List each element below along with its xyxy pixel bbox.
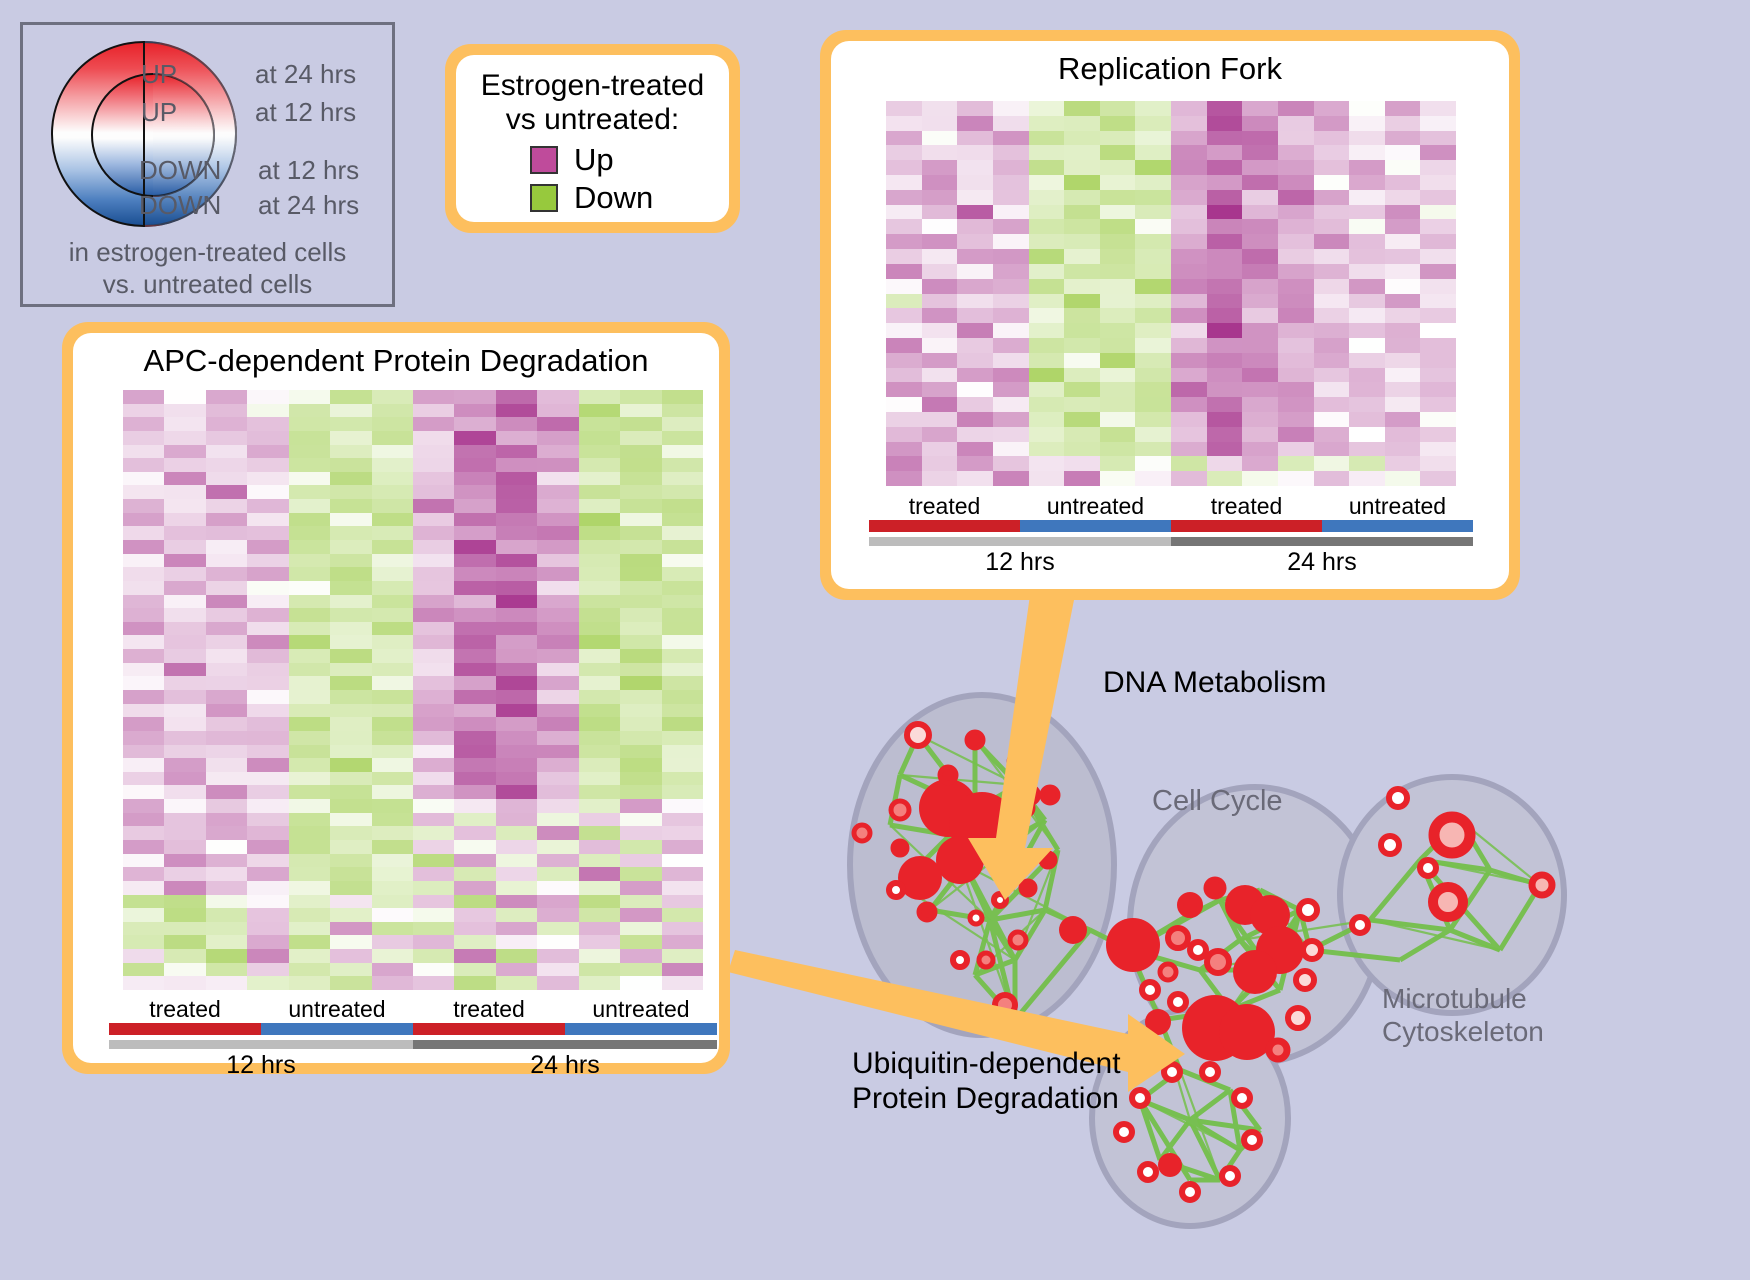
- heatmap-cell: [537, 417, 578, 431]
- heatmap-cell: [372, 431, 413, 445]
- heatmap-cell: [164, 513, 205, 527]
- heatmap-cell: [330, 826, 371, 840]
- heatmap-cell: [330, 785, 371, 799]
- heatmap-cell: [164, 785, 205, 799]
- heatmap-cell: [1207, 427, 1243, 442]
- heatmap-cell: [662, 785, 703, 799]
- column-group-label: treated: [1171, 493, 1322, 520]
- heatmap-cell: [413, 690, 454, 704]
- wheel-caption-line1: in estrogen-treated cells: [23, 237, 392, 269]
- heatmap-cell: [206, 826, 247, 840]
- replication-fork-title: Replication Fork: [831, 41, 1509, 87]
- heatmap-cell: [662, 567, 703, 581]
- heatmap-cell: [1100, 308, 1136, 323]
- heatmap-cell: [289, 390, 330, 404]
- heatmap-cell: [330, 663, 371, 677]
- heatmap-cell: [496, 922, 537, 936]
- treatment-bar: [1171, 520, 1322, 532]
- heatmap-cell: [289, 554, 330, 568]
- heatmap-cell: [1242, 427, 1278, 442]
- heatmap-cell: [247, 758, 288, 772]
- heatmap-cell: [330, 867, 371, 881]
- heatmap-cell: [922, 338, 958, 353]
- replication-fork-heatmap: [886, 101, 1456, 486]
- heatmap-cell: [289, 745, 330, 759]
- heatmap-cell: [620, 554, 661, 568]
- heatmap-cell: [957, 249, 993, 264]
- heatmap-cell: [662, 554, 703, 568]
- heatmap-cell: [496, 840, 537, 854]
- heatmap-cell: [620, 417, 661, 431]
- heatmap-cell: [123, 554, 164, 568]
- heatmap-cell: [1171, 382, 1207, 397]
- heatmap-cell: [537, 676, 578, 690]
- heatmap-cell: [206, 731, 247, 745]
- heatmap-cell: [662, 417, 703, 431]
- heatmap-cell: [1207, 249, 1243, 264]
- apc-title: APC-dependent Protein Degradation: [73, 333, 719, 379]
- heatmap-cell: [206, 417, 247, 431]
- heatmap-cell: [1278, 234, 1314, 249]
- heatmap-cell: [496, 813, 537, 827]
- heatmap-cell: [957, 234, 993, 249]
- heatmap-cell: [579, 772, 620, 786]
- heatmap-cell: [1029, 101, 1065, 116]
- heatmap-cell: [496, 472, 537, 486]
- heatmap-cell: [1242, 279, 1278, 294]
- heatmap-cell: [496, 908, 537, 922]
- heatmap-cell: [1207, 131, 1243, 146]
- heatmap-cell: [372, 676, 413, 690]
- column-group-label: untreated: [565, 996, 717, 1023]
- heatmap-cell: [1100, 353, 1136, 368]
- heatmap-cell: [662, 663, 703, 677]
- heatmap-cell: [454, 799, 495, 813]
- heatmap-cell: [620, 581, 661, 595]
- heatmap-cell: [1242, 190, 1278, 205]
- color-wheel-legend: UP at 24 hrs UP at 12 hrs DOWN at 12 hrs…: [20, 22, 395, 307]
- heatmap-cell: [1135, 131, 1171, 146]
- heatmap-cell: [1349, 116, 1385, 131]
- heatmap-cell: [1100, 456, 1136, 471]
- heatmap-cell: [1100, 175, 1136, 190]
- heatmap-cell: [164, 676, 205, 690]
- heatmap-cell: [164, 826, 205, 840]
- heatmap-cell: [1385, 368, 1421, 383]
- heatmap-cell: [662, 458, 703, 472]
- heatmap-cell: [123, 922, 164, 936]
- heatmap-cell: [330, 935, 371, 949]
- heatmap-cell: [993, 190, 1029, 205]
- heatmap-cell: [164, 963, 205, 977]
- heatmap-cell: [579, 758, 620, 772]
- network-node: [1233, 950, 1277, 994]
- heatmap-cell: [247, 404, 288, 418]
- heatmap-cell: [289, 431, 330, 445]
- heatmap-cell: [537, 813, 578, 827]
- heatmap-cell: [123, 608, 164, 622]
- heatmap-cell: [579, 445, 620, 459]
- heatmap-cell: [247, 813, 288, 827]
- heatmap-cell: [1135, 175, 1171, 190]
- heatmap-cell: [620, 704, 661, 718]
- heatmap-cell: [1064, 338, 1100, 353]
- heatmap-cell: [620, 976, 661, 990]
- heatmap-cell: [620, 826, 661, 840]
- heatmap-cell: [1278, 175, 1314, 190]
- heatmap-cell: [372, 758, 413, 772]
- timepoint-label: 12 hrs: [109, 1051, 413, 1080]
- heatmap-cell: [1242, 294, 1278, 309]
- heatmap-cell: [206, 472, 247, 486]
- heatmap-cell: [1420, 234, 1456, 249]
- heatmap-cell: [1171, 353, 1207, 368]
- heatmap-cell: [537, 935, 578, 949]
- heatmap-cell: [620, 635, 661, 649]
- heatmap-cell: [289, 485, 330, 499]
- heatmap-cell: [454, 649, 495, 663]
- heatmap-cell: [123, 826, 164, 840]
- heatmap-cell: [1207, 323, 1243, 338]
- heatmap-cell: [1029, 234, 1065, 249]
- heatmap-cell: [662, 895, 703, 909]
- heatmap-cell: [922, 471, 958, 486]
- heatmap-cell: [886, 264, 922, 279]
- heatmap-cell: [922, 116, 958, 131]
- heatmap-cell: [620, 540, 661, 554]
- heatmap-cell: [206, 404, 247, 418]
- heatmap-cell: [330, 717, 371, 731]
- heatmap-cell: [537, 595, 578, 609]
- heatmap-cell: [1171, 308, 1207, 323]
- heatmap-cell: [123, 649, 164, 663]
- heatmap-cell: [164, 799, 205, 813]
- heatmap-cell: [206, 526, 247, 540]
- heatmap-cell: [330, 485, 371, 499]
- heatmap-cell: [454, 976, 495, 990]
- heatmap-cell: [922, 382, 958, 397]
- heatmap-cell: [1171, 456, 1207, 471]
- heatmap-cell: [247, 717, 288, 731]
- heatmap-cell: [1385, 145, 1421, 160]
- heatmap-cell: [164, 499, 205, 513]
- heatmap-cell: [1385, 456, 1421, 471]
- heatmap-cell: [123, 731, 164, 745]
- heatmap-cell: [1135, 397, 1171, 412]
- heatmap-cell: [1385, 442, 1421, 457]
- heatmap-cell: [164, 608, 205, 622]
- heatmap-cell: [1207, 456, 1243, 471]
- heatmap-cell: [372, 785, 413, 799]
- heatmap-cell: [413, 758, 454, 772]
- heatmap-cell: [1385, 382, 1421, 397]
- heatmap-cell: [247, 840, 288, 854]
- heatmap-cell: [164, 745, 205, 759]
- heatmap-cell: [289, 499, 330, 513]
- heatmap-cell: [206, 690, 247, 704]
- heatmap-cell: [1207, 205, 1243, 220]
- heatmap-cell: [662, 676, 703, 690]
- heatmap-cell: [1420, 205, 1456, 220]
- heatmap-cell: [413, 499, 454, 513]
- heatmap-cell: [372, 731, 413, 745]
- heatmap-cell: [454, 908, 495, 922]
- heatmap-cell: [886, 353, 922, 368]
- heatmap-cell: [454, 949, 495, 963]
- heatmap-cell: [123, 390, 164, 404]
- heatmap-cell: [886, 471, 922, 486]
- heatmap-cell: [206, 499, 247, 513]
- heatmap-cell: [289, 854, 330, 868]
- heatmap-cell: [454, 922, 495, 936]
- heatmap-cell: [330, 895, 371, 909]
- heatmap-cell: [579, 663, 620, 677]
- heatmap-cell: [620, 854, 661, 868]
- heatmap-cell: [1420, 397, 1456, 412]
- heatmap-cell: [1314, 249, 1350, 264]
- heatmap-cell: [206, 622, 247, 636]
- heatmap-cell: [123, 840, 164, 854]
- heatmap-cell: [1064, 294, 1100, 309]
- heatmap-cell: [330, 881, 371, 895]
- heatmap-cell: [164, 458, 205, 472]
- heatmap-cell: [1135, 353, 1171, 368]
- heatmap-cell: [247, 799, 288, 813]
- heatmap-cell: [454, 445, 495, 459]
- heatmap-cell: [330, 635, 371, 649]
- heatmap-cell: [247, 881, 288, 895]
- heatmap-cell: [1385, 294, 1421, 309]
- heatmap-cell: [1420, 323, 1456, 338]
- heatmap-cell: [620, 963, 661, 977]
- heatmap-cell: [1207, 264, 1243, 279]
- heatmap-cell: [1029, 323, 1065, 338]
- heatmap-cell: [1135, 219, 1171, 234]
- heatmap-cell: [164, 635, 205, 649]
- wheel-caption: in estrogen-treated cells vs. untreated …: [23, 237, 392, 300]
- heatmap-cell: [957, 412, 993, 427]
- heatmap-cell: [496, 390, 537, 404]
- heatmap-cell: [1420, 471, 1456, 486]
- heatmap-cell: [247, 704, 288, 718]
- heatmap-cell: [662, 799, 703, 813]
- heatmap-cell: [886, 205, 922, 220]
- heatmap-cell: [579, 963, 620, 977]
- heatmap-cell: [620, 445, 661, 459]
- heatmap-cell: [206, 758, 247, 772]
- heatmap-cell: [496, 554, 537, 568]
- heatmap-cell: [1029, 249, 1065, 264]
- heatmap-cell: [1420, 353, 1456, 368]
- heatmap-cell: [330, 922, 371, 936]
- heatmap-cell: [1100, 412, 1136, 427]
- heatmap-cell: [496, 895, 537, 909]
- heatmap-cell: [413, 608, 454, 622]
- heatmap-cell: [1420, 382, 1456, 397]
- heatmap-cell: [1420, 249, 1456, 264]
- heatmap-cell: [1278, 294, 1314, 309]
- heatmap-cell: [993, 205, 1029, 220]
- heatmap-cell: [620, 622, 661, 636]
- heatmap-cell: [993, 442, 1029, 457]
- heatmap-cell: [1100, 427, 1136, 442]
- heatmap-cell: [579, 676, 620, 690]
- heatmap-cell: [1100, 279, 1136, 294]
- replication-fork-column-labels: treateduntreatedtreateduntreated: [869, 493, 1473, 520]
- heatmap-cell: [1242, 456, 1278, 471]
- heatmap-cell: [372, 935, 413, 949]
- heatmap-cell: [537, 963, 578, 977]
- heatmap-cell: [662, 431, 703, 445]
- heatmap-cell: [164, 717, 205, 731]
- heatmap-cell: [1278, 397, 1314, 412]
- heatmap-cell: [164, 472, 205, 486]
- heatmap-cell: [1029, 471, 1065, 486]
- heatmap-cell: [496, 963, 537, 977]
- heatmap-cell: [662, 717, 703, 731]
- heatmap-cell: [413, 622, 454, 636]
- heatmap-cell: [1100, 338, 1136, 353]
- heatmap-cell: [1314, 323, 1350, 338]
- heatmap-cell: [957, 353, 993, 368]
- heatmap-cell: [620, 472, 661, 486]
- heatmap-cell: [1420, 279, 1456, 294]
- heatmap-cell: [579, 690, 620, 704]
- heatmap-cell: [330, 908, 371, 922]
- heatmap-cell: [330, 472, 371, 486]
- heatmap-cell: [537, 772, 578, 786]
- heatmap-cell: [247, 908, 288, 922]
- heatmap-cell: [289, 458, 330, 472]
- heatmap-cell: [1314, 234, 1350, 249]
- heatmap-cell: [1100, 219, 1136, 234]
- heatmap-cell: [413, 785, 454, 799]
- heatmap-cell: [164, 908, 205, 922]
- heatmap-cell: [206, 867, 247, 881]
- heatmap-cell: [330, 526, 371, 540]
- heatmap-cell: [206, 717, 247, 731]
- heatmap-cell: [330, 581, 371, 595]
- heatmap-cell: [662, 690, 703, 704]
- heatmap-cell: [1314, 308, 1350, 323]
- heatmap-cell: [1314, 205, 1350, 220]
- heatmap-cell: [247, 513, 288, 527]
- heatmap-cell: [496, 758, 537, 772]
- heatmap-cell: [289, 567, 330, 581]
- heatmap-cell: [164, 704, 205, 718]
- heatmap-cell: [372, 826, 413, 840]
- heatmap-cell: [123, 499, 164, 513]
- heatmap-cell: [1349, 382, 1385, 397]
- wheel-label-down-outer: DOWN: [139, 190, 221, 221]
- treatment-bar: [261, 1023, 413, 1035]
- heatmap-cell: [1207, 471, 1243, 486]
- heatmap-cell: [579, 949, 620, 963]
- heatmap-cell: [662, 608, 703, 622]
- heatmap-cell: [454, 963, 495, 977]
- heatmap-cell: [206, 813, 247, 827]
- heatmap-cell: [372, 867, 413, 881]
- heatmap-cell: [330, 949, 371, 963]
- heatmap-cell: [662, 704, 703, 718]
- heatmap-cell: [372, 976, 413, 990]
- heatmap-cell: [993, 368, 1029, 383]
- heatmap-cell: [922, 427, 958, 442]
- heatmap-cell: [662, 867, 703, 881]
- heatmap-cell: [620, 922, 661, 936]
- heatmap-cell: [1135, 456, 1171, 471]
- heatmap-cell: [289, 731, 330, 745]
- heatmap-cell: [247, 485, 288, 499]
- heatmap-cell: [454, 540, 495, 554]
- heatmap-cell: [1171, 101, 1207, 116]
- cluster-label-ubiquitin-line1: Ubiquitin-dependent: [852, 1046, 1121, 1081]
- heatmap-cell: [1385, 219, 1421, 234]
- heatmap-cell: [289, 404, 330, 418]
- heatmap-cell: [1207, 397, 1243, 412]
- heatmap-cell: [1349, 368, 1385, 383]
- heatmap-cell: [537, 608, 578, 622]
- heatmap-cell: [1064, 279, 1100, 294]
- heatmap-cell: [372, 813, 413, 827]
- heatmap-cell: [454, 554, 495, 568]
- heatmap-cell: [620, 485, 661, 499]
- heatmap-cell: [496, 949, 537, 963]
- heatmap-cell: [1135, 382, 1171, 397]
- heatmap-cell: [620, 676, 661, 690]
- heatmap-cell: [206, 908, 247, 922]
- heatmap-cell: [372, 540, 413, 554]
- heatmap-cell: [1029, 205, 1065, 220]
- heatmap-cell: [886, 249, 922, 264]
- heatmap-cell: [496, 485, 537, 499]
- heatmap-cell: [454, 813, 495, 827]
- heatmap-cell: [620, 649, 661, 663]
- heatmap-cell: [1064, 249, 1100, 264]
- heatmap-cell: [413, 881, 454, 895]
- heatmap-cell: [537, 922, 578, 936]
- heatmap-cell: [1278, 279, 1314, 294]
- heatmap-cell: [1349, 249, 1385, 264]
- heatmap-cell: [1100, 382, 1136, 397]
- heatmap-cell: [1385, 264, 1421, 279]
- heatmap-cell: [662, 976, 703, 990]
- heatmap-cell: [1314, 219, 1350, 234]
- heatmap-cell: [330, 704, 371, 718]
- heatmap-cell: [330, 567, 371, 581]
- heatmap-cell: [1207, 279, 1243, 294]
- heatmap-cell: [1064, 471, 1100, 486]
- heatmap-cell: [620, 608, 661, 622]
- legend-label-up: Up: [574, 142, 614, 178]
- heatmap-cell: [922, 264, 958, 279]
- heatmap-cell: [289, 595, 330, 609]
- heatmap-cell: [413, 649, 454, 663]
- heatmap-cell: [1029, 190, 1065, 205]
- heatmap-cell: [579, 854, 620, 868]
- heatmap-cell: [579, 417, 620, 431]
- heatmap-cell: [123, 908, 164, 922]
- heatmap-cell: [454, 717, 495, 731]
- heatmap-cell: [330, 540, 371, 554]
- heatmap-cell: [1207, 368, 1243, 383]
- heatmap-cell: [247, 854, 288, 868]
- heatmap-cell: [1349, 101, 1385, 116]
- replication-fork-timepoint-labels: 12 hrs24 hrs: [869, 548, 1473, 577]
- heatmap-cell: [1278, 145, 1314, 160]
- heatmap-cell: [1171, 442, 1207, 457]
- cluster-label-dna-metabolism: DNA Metabolism: [1103, 666, 1326, 700]
